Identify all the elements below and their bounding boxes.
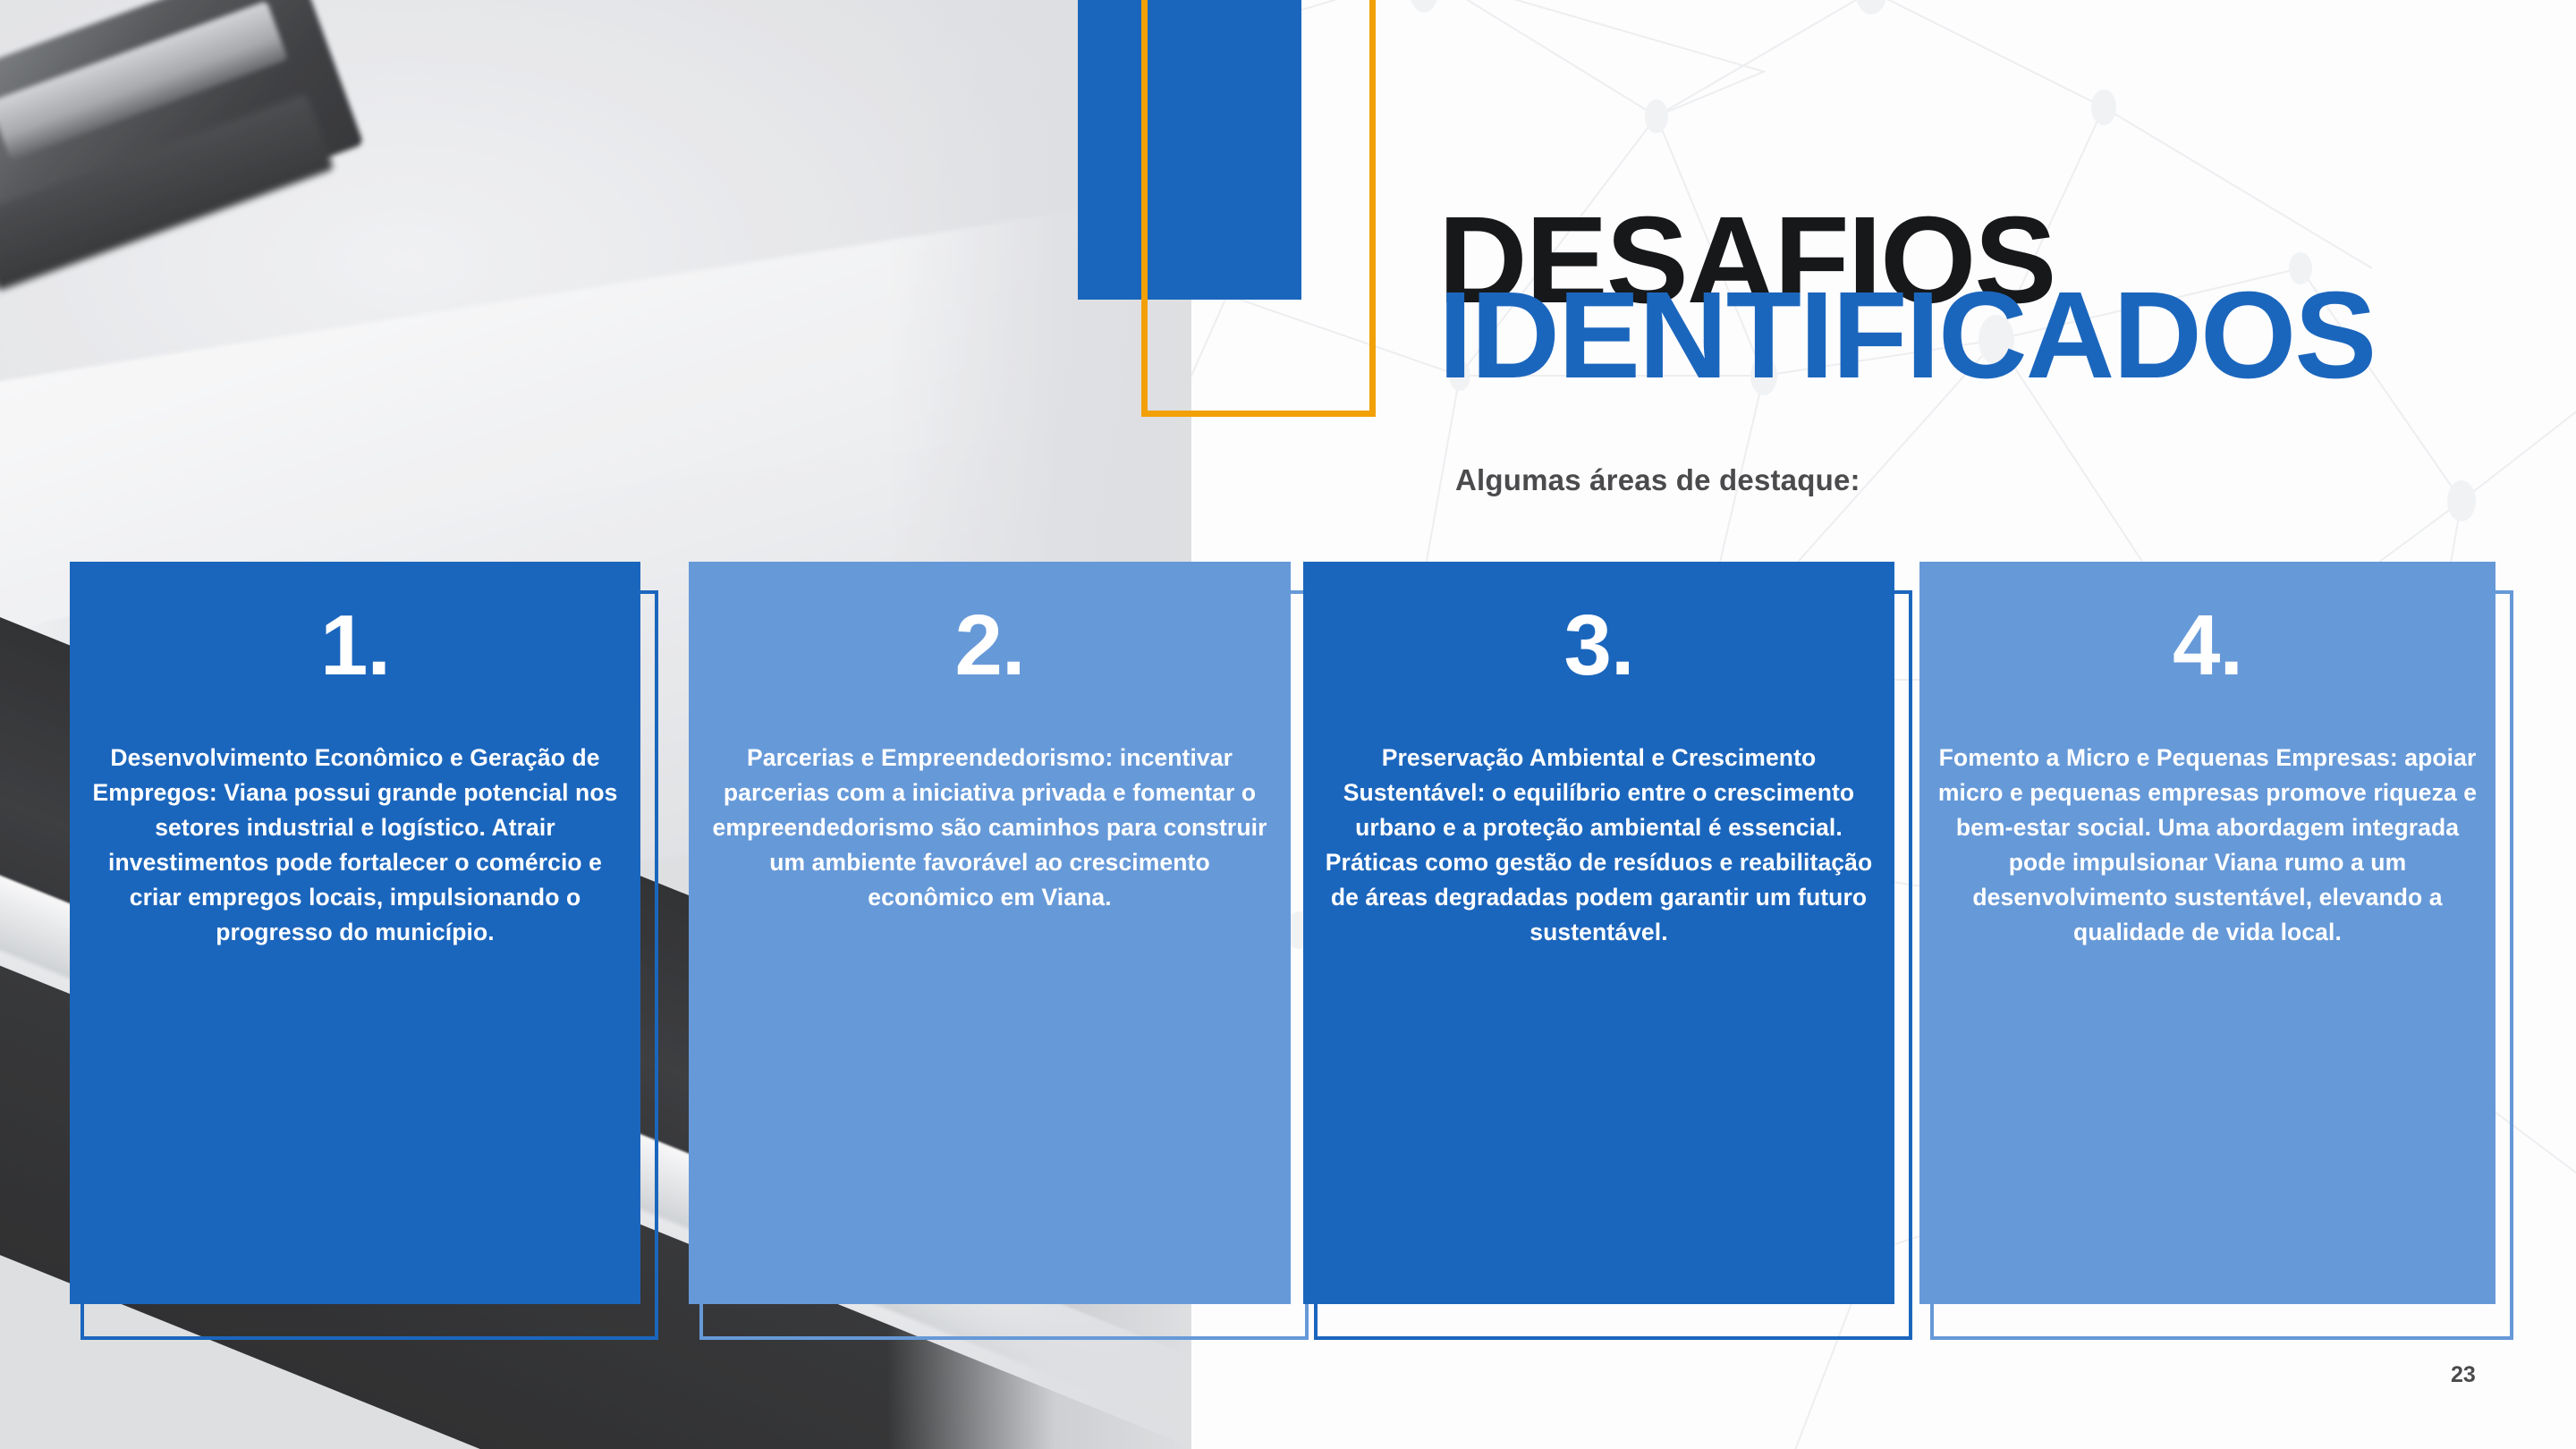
card-1-body[interactable]: 1. Desenvolvimento Econômico e Geração d…: [70, 562, 640, 1304]
card-1-number: 1.: [320, 603, 390, 689]
card-3-body[interactable]: 3. Preservação Ambiental e Crescimento S…: [1303, 562, 1894, 1304]
card-3-number: 3.: [1563, 603, 1633, 689]
card-3-text: Preservação Ambiental e Crescimento Sust…: [1319, 741, 1878, 950]
card-4-number: 4.: [2173, 603, 2242, 689]
page-title: DESAFIOS IDENTIFICADOS: [1438, 211, 2422, 417]
subtitle: Algumas áreas de destaque:: [1455, 463, 1860, 497]
card-2-body[interactable]: 2. Parcerias e Empreendedorismo: incenti…: [689, 562, 1291, 1304]
page-number: 23: [2451, 1362, 2476, 1388]
card-4-text: Fomento a Micro e Pequenas Empresas: apo…: [1936, 741, 2479, 950]
card-2-text: Parcerias e Empreendedorismo: incentivar…: [705, 741, 1275, 915]
title-line-2: IDENTIFICADOS: [1438, 286, 2375, 385]
decor-orange-outline-rectangle: [1141, 0, 1376, 417]
card-4-body[interactable]: 4. Fomento a Micro e Pequenas Empresas: …: [1919, 562, 2495, 1304]
card-2-number: 2.: [954, 603, 1024, 689]
card-1-text: Desenvolvimento Econômico e Geração de E…: [86, 741, 624, 950]
